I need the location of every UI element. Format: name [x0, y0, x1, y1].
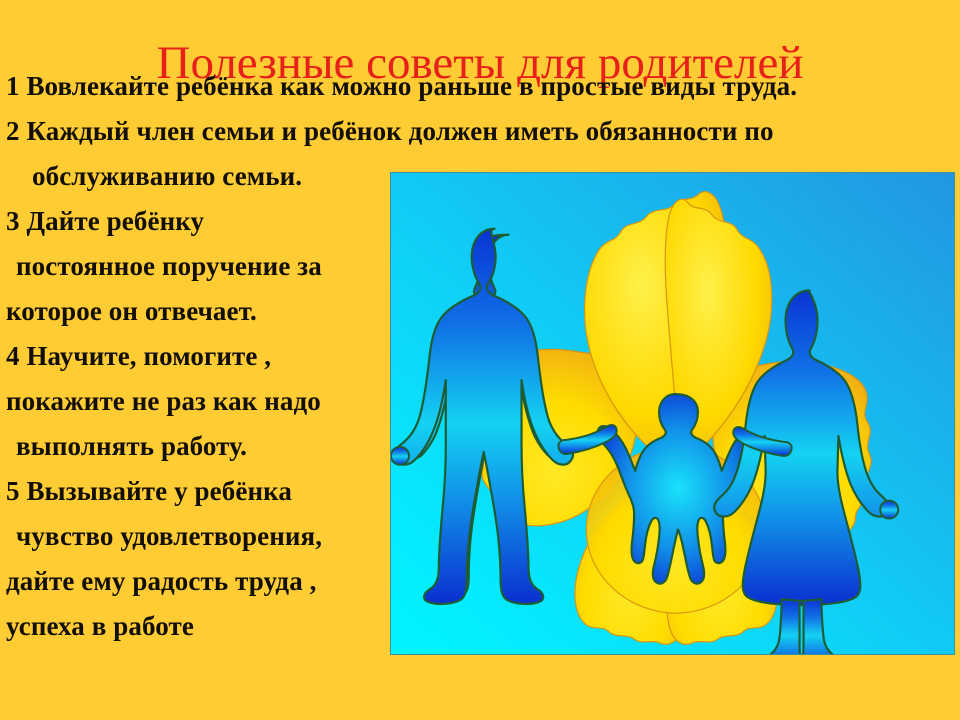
tip-line: 1 Вовлекайте ребёнка как можно раньше в …: [6, 64, 956, 109]
father-free-hand: [391, 447, 409, 465]
mother-free-hand: [880, 501, 898, 519]
family-flower-graphic: [391, 173, 954, 654]
tip-line: 2 Каждый член семьи и ребёнок должен име…: [6, 109, 956, 154]
family-flower-illustration: [390, 172, 955, 655]
slide-root: Полезные советы для родителей 1 Вовлекай…: [0, 0, 960, 720]
